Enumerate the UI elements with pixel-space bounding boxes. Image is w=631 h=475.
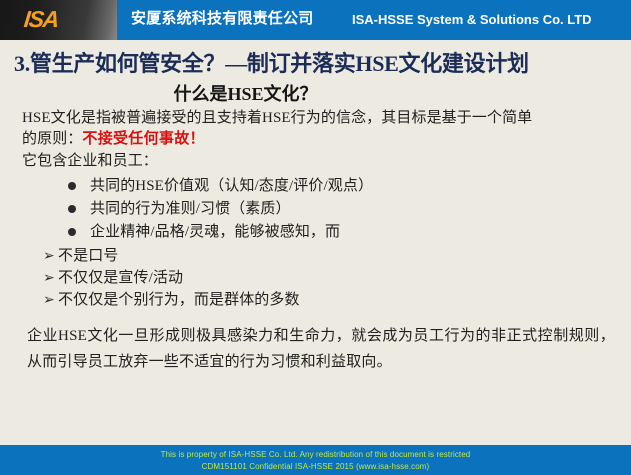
slide-body: HSE文化是指被普遍接受的且支持着HSE行为的信念，其目标是基于一个简单 的原则… [22, 108, 622, 311]
lead-paragraph-line-1: HSE文化是指被普遍接受的且支持着HSE行为的信念，其目标是基于一个简单 [22, 108, 618, 129]
footer-copyright-line: This is property of ISA-HSSE Co. Ltd. An… [0, 445, 631, 460]
list-item-label: 共同的HSE价值观（认知/态度/评价/观点） [90, 178, 373, 194]
list-item: ➢ 不仅仅是宣传/活动 [44, 267, 622, 289]
list-item: 企业精神/品格/灵魂，能够被感知，而 [68, 221, 622, 244]
list-item: 共同的HSE价值观（认知/态度/评价/观点） [68, 175, 622, 198]
header-company-name-cn: 安厦系统科技有限责任公司 [131, 9, 313, 28]
slide-canvas: ISA 安厦系统科技有限责任公司 ISA-HSSE System & Solut… [0, 0, 631, 475]
bullet-list: 共同的HSE价值观（认知/态度/评价/观点） 共同的行为准则/习惯（素质） 企业… [22, 175, 622, 244]
arrow-bullet-icon: ➢ [43, 289, 55, 311]
list-item-label: 共同的行为准则/习惯（素质） [90, 201, 291, 217]
intro-line: 它包含企业和员工： [22, 151, 622, 172]
arrow-bullet-icon: ➢ [43, 245, 55, 267]
bullet-dot-icon [68, 182, 76, 190]
list-item-label: 企业精神/品格/灵魂，能够被感知，而 [90, 224, 340, 240]
bullet-dot-icon [68, 205, 76, 213]
list-item: ➢ 不是口号 [44, 245, 622, 267]
list-item: ➢ 不仅仅是个别行为，而是群体的多数 [44, 289, 622, 311]
slide-title: 3.管生产如何管安全？—制订并落实HSE文化建设计划 [14, 50, 624, 78]
arrow-bullet-icon: ➢ [43, 267, 55, 289]
closing-paragraph: 企业HSE文化一旦形成则极具感染力和生命力，就会成为员工行为的非正式控制规则，从… [27, 323, 615, 375]
slide-subtitle: 什么是HSE文化？ [0, 82, 631, 106]
logo-panel: ISA [0, 0, 117, 40]
footer-document-id-line: CDM151101 Confidential ISA-HSSE 2015 (ww… [0, 460, 631, 472]
list-item: 共同的行为准则/习惯（素质） [68, 198, 622, 221]
sub-bullet-list: ➢ 不是口号 ➢ 不仅仅是宣传/活动 ➢ 不仅仅是个别行为，而是群体的多数 [22, 245, 622, 311]
list-item-label: 不仅仅是个别行为，而是群体的多数 [58, 292, 300, 308]
slide-header: ISA 安厦系统科技有限责任公司 ISA-HSSE System & Solut… [0, 0, 631, 40]
list-item-label: 不是口号 [58, 248, 118, 264]
isa-logo-icon: ISA [23, 8, 59, 31]
bullet-dot-icon [68, 228, 76, 236]
principle-highlight: 不接受任何事故！ [82, 131, 204, 147]
principle-label: 的原则： [22, 131, 82, 147]
list-item-label: 不仅仅是宣传/活动 [58, 270, 183, 286]
slide-footer: This is property of ISA-HSSE Co. Ltd. An… [0, 445, 631, 475]
header-company-name-en: ISA-HSSE System & Solutions Co. LTD [352, 11, 592, 28]
lead-paragraph-line-2: 的原则：不接受任何事故！ [22, 129, 622, 150]
